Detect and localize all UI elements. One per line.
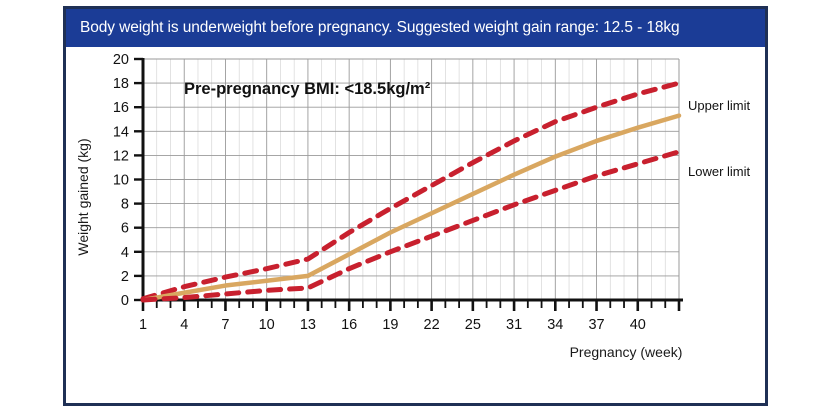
y-tick-label: 12 — [113, 148, 129, 164]
bmi-annotation: Pre-pregnancy BMI: <18.5kg/m² — [184, 80, 431, 98]
upper-limit-label: Upper limit — [688, 98, 751, 113]
x-axis-title: Pregnancy (week) — [570, 344, 683, 360]
x-tick-label: 22 — [424, 317, 440, 333]
x-axis-ticks — [143, 300, 679, 311]
y-tick-label: 2 — [121, 269, 129, 285]
y-tick-label: 8 — [121, 197, 129, 213]
lower-limit-label: Lower limit — [688, 164, 751, 179]
x-tick-label: 19 — [382, 317, 398, 333]
y-axis-title: Weight gained (kg) — [75, 138, 91, 255]
x-tick-label: 37 — [588, 317, 604, 333]
x-tick-label: 4 — [180, 317, 188, 333]
x-tick-label: 16 — [341, 317, 357, 333]
y-tick-label: 14 — [113, 124, 129, 140]
y-tick-label: 18 — [113, 76, 129, 92]
header-text: Body weight is underweight before pregna… — [80, 19, 680, 37]
x-tick-label: 7 — [221, 317, 229, 333]
series-line-upper-limit — [143, 83, 679, 299]
weight-gain-line-chart: 02468101214161820 1471013161922253134374… — [66, 47, 765, 405]
x-tick-label: 13 — [300, 317, 316, 333]
y-tick-label: 16 — [113, 100, 129, 116]
chart-plot-area: 02468101214161820 1471013161922253134374… — [66, 47, 765, 406]
y-tick-label: 0 — [121, 293, 129, 309]
series-line-recommended — [143, 116, 679, 300]
y-axis-tick-labels: 02468101214161820 — [113, 52, 129, 309]
x-tick-label: 1 — [139, 317, 147, 333]
x-tick-label: 34 — [547, 317, 563, 333]
y-tick-label: 6 — [121, 221, 129, 237]
x-tick-label: 25 — [465, 317, 481, 333]
y-tick-label: 20 — [113, 52, 129, 68]
x-axis-tick-labels: 14710131619222531343740 — [139, 317, 646, 333]
header-banner: Body weight is underweight before pregna… — [66, 9, 765, 47]
y-tick-label: 4 — [121, 245, 129, 261]
x-tick-label: 10 — [259, 317, 275, 333]
x-tick-label: 31 — [506, 317, 522, 333]
data-series-group — [143, 83, 679, 300]
chart-card: Body weight is underweight before pregna… — [63, 6, 768, 406]
x-tick-label: 40 — [630, 317, 646, 333]
y-tick-label: 10 — [113, 173, 129, 189]
